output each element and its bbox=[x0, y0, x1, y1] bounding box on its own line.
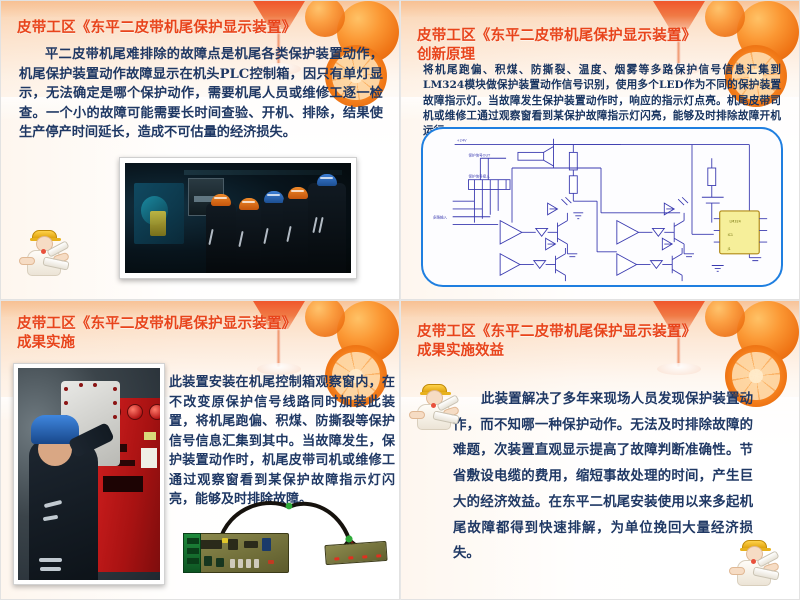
svg-text:保护信号OUT: 保护信号OUT bbox=[468, 152, 491, 157]
slide-4-body-text: 此装置解决了多年来现场人员发现保护装置动作，而不知哪一种保护动作。无法及时排除故… bbox=[453, 387, 753, 567]
slide-top-band bbox=[1, 1, 399, 17]
slide-1-photo-frame[interactable] bbox=[119, 157, 357, 279]
svg-text:J1: J1 bbox=[727, 247, 731, 251]
svg-text:IC1: IC1 bbox=[728, 233, 733, 237]
circuit-diagram[interactable]: +24V 保护信号OUT 多路输入 保护信号接入 LM324 IC1 J1 bbox=[421, 127, 783, 287]
slide-3-photo-frame[interactable] bbox=[13, 363, 165, 585]
slide-4-title-block: 皮带工区《东平二皮带机尾保护显示装置》 成果实施效益 bbox=[417, 323, 791, 360]
horizontal-separator bbox=[0, 300, 800, 301]
slide-1-title: 皮带工区《东平二皮带机尾保护显示装置》 bbox=[17, 19, 391, 38]
slide-3-title-block: 皮带工区《东平二皮带机尾保护显示装置》 成果实施 bbox=[17, 315, 391, 352]
pcb-terminal-block bbox=[183, 533, 201, 573]
slide-1-body-text: 平二皮带机尾难排除的故障点是机尾各类保护装置动作，机尾保护装置动作故障显示在机头… bbox=[19, 45, 383, 143]
slide-3-title: 皮带工区《东平二皮带机尾保护显示装置》 bbox=[17, 315, 391, 334]
slide-deck-grid: 皮带工区《东平二皮带机尾保护显示装置》 平二皮带机尾难排除的故障点是机尾各类保护… bbox=[0, 0, 800, 600]
svg-text:多路输入: 多路输入 bbox=[433, 215, 448, 220]
slide-4[interactable]: 皮带工区《东平二皮带机尾保护显示装置》 成果实施效益 此装置解决了多年来现场人员… bbox=[400, 300, 800, 600]
slide-2-subtitle: 创新原理 bbox=[417, 46, 791, 65]
slide-top-band bbox=[401, 1, 799, 17]
lm324-ic-symbol bbox=[720, 211, 760, 254]
svg-text:保护信号接入: 保护信号接入 bbox=[468, 174, 490, 179]
circuit-diagram-svg: +24V 保护信号OUT 多路输入 保护信号接入 LM324 IC1 J1 bbox=[423, 129, 781, 285]
slide-3-body-text: 此装置安装在机尾控制箱观察窗内，在不改变原保护信号线路同时加装此装置，将机尾跑偏… bbox=[169, 373, 395, 510]
worker-control-box-photo bbox=[18, 368, 160, 580]
slide-2-title-block: 皮带工区《东平二皮带机尾保护显示装置》 创新原理 bbox=[417, 27, 791, 64]
svg-text:LM324: LM324 bbox=[730, 220, 741, 224]
pcb-assembly-photo[interactable] bbox=[183, 493, 395, 579]
svg-text:+24V: +24V bbox=[457, 139, 467, 143]
cocktail-glass-bowl-icon bbox=[641, 0, 717, 29]
slide-2-title: 皮带工区《东平二皮带机尾保护显示装置》 bbox=[417, 27, 791, 46]
slide-1-title-block: 皮带工区《东平二皮带机尾保护显示装置》 bbox=[17, 19, 391, 38]
slide-2[interactable]: 皮带工区《东平二皮带机尾保护显示装置》 创新原理 将机尾跑偏、积煤、防撕裂、温度… bbox=[400, 0, 800, 300]
mine-meeting-photo bbox=[125, 163, 351, 273]
slide-1[interactable]: 皮带工区《东平二皮带机尾保护显示装置》 平二皮带机尾难排除的故障点是机尾各类保护… bbox=[0, 0, 400, 300]
worker-mascot-icon bbox=[17, 229, 75, 281]
slide-3[interactable]: 皮带工区《东平二皮带机尾保护显示装置》 成果实施 bbox=[0, 300, 400, 600]
cocktail-glass-foot-icon bbox=[657, 363, 701, 375]
pcb-main-board bbox=[191, 533, 289, 573]
slide-4-title: 皮带工区《东平二皮带机尾保护显示装置》 bbox=[417, 323, 791, 342]
slide-4-subtitle: 成果实施效益 bbox=[417, 342, 791, 361]
slide-top-band bbox=[401, 301, 799, 317]
slide-3-subtitle: 成果实施 bbox=[17, 334, 391, 353]
